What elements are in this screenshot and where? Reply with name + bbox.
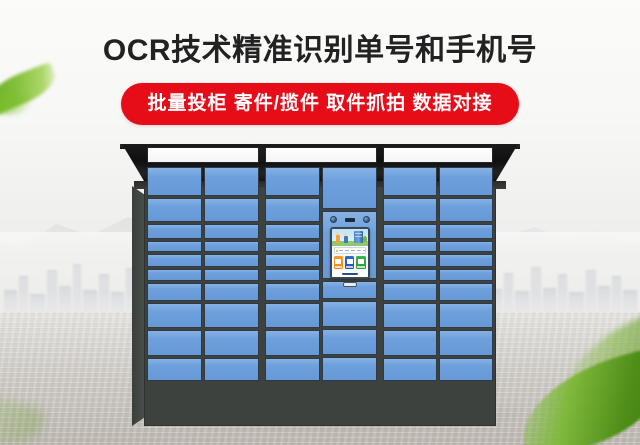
locker-door[interactable] <box>383 198 437 222</box>
locker-door[interactable] <box>383 283 437 301</box>
camera-right-icon <box>363 216 370 223</box>
sensor-bar <box>330 215 370 224</box>
locker-door[interactable] <box>147 358 202 382</box>
locker-door[interactable] <box>439 167 493 196</box>
camera-left-icon <box>330 216 337 223</box>
locker-door[interactable] <box>204 330 259 355</box>
locker-door[interactable] <box>383 358 437 382</box>
locker-door[interactable] <box>383 330 437 355</box>
box-icon <box>347 259 353 264</box>
bay-center-banner <box>265 147 377 163</box>
locker-door[interactable] <box>439 241 493 253</box>
locker-door[interactable] <box>204 241 259 253</box>
locker-door[interactable] <box>265 283 320 301</box>
bay-left-col-1 <box>147 167 202 381</box>
locker-door[interactable] <box>147 224 202 239</box>
page-title: OCR技术精准识别单号和手机号 <box>0 25 640 69</box>
bay-left-col-2 <box>204 167 259 381</box>
locker-door[interactable] <box>204 198 259 222</box>
locker-door[interactable] <box>383 241 437 253</box>
locker-door[interactable] <box>383 254 437 267</box>
customer-figure-icon <box>344 236 348 243</box>
locker-door[interactable] <box>147 254 202 267</box>
locker-door[interactable] <box>383 303 437 328</box>
locker-door[interactable] <box>383 167 437 196</box>
locker-door[interactable] <box>322 357 377 381</box>
bay-right-col-2 <box>439 167 493 381</box>
parcel-icon <box>335 259 341 264</box>
tree-icon <box>363 236 367 242</box>
tile-pickup[interactable] <box>345 256 355 269</box>
bay-center <box>262 144 380 384</box>
locker-door[interactable] <box>204 254 259 267</box>
bay-center-col-2-kiosk <box>322 167 377 381</box>
bay-right-col-1 <box>383 167 437 381</box>
bay-left-doors <box>147 167 259 381</box>
locker-door[interactable] <box>147 330 202 355</box>
locker-door[interactable] <box>383 224 437 239</box>
locker-door[interactable] <box>204 283 259 301</box>
locker-door[interactable] <box>147 303 202 328</box>
bay-right <box>380 144 496 384</box>
kiosk-touchscreen[interactable] <box>330 227 370 279</box>
screen-home-indicator <box>332 271 368 277</box>
phone-icon <box>358 259 364 264</box>
bay-right-doors <box>383 167 493 381</box>
bay-right-banner <box>383 147 493 163</box>
locker-door[interactable] <box>322 301 377 327</box>
scanner-slot-icon <box>345 218 355 222</box>
locker-door[interactable] <box>147 167 202 196</box>
locker-control-panel[interactable] <box>330 215 370 287</box>
locker-door[interactable] <box>265 303 320 328</box>
feature-badge: 批量投柜 寄件/揽件 取件抓拍 数据对接 <box>121 83 518 125</box>
locker-door[interactable] <box>439 330 493 355</box>
bay-left-banner <box>147 147 259 163</box>
courier-figure-icon <box>336 235 340 243</box>
locker-door[interactable] <box>265 269 320 281</box>
locker-door[interactable] <box>204 167 259 196</box>
locker-door[interactable] <box>322 167 377 209</box>
locker-door[interactable] <box>147 241 202 253</box>
feature-badge-container: 批量投柜 寄件/揽件 取件抓拍 数据对接 <box>0 83 640 125</box>
locker-door[interactable] <box>265 358 320 382</box>
locker-door[interactable] <box>439 269 493 281</box>
locker-door[interactable] <box>439 358 493 382</box>
card-slot[interactable] <box>343 282 357 287</box>
search-icon <box>336 250 338 252</box>
locker-door[interactable] <box>383 269 437 281</box>
locker-door[interactable] <box>439 283 493 301</box>
locker-door[interactable] <box>204 358 259 382</box>
base-plinth <box>134 422 502 438</box>
locker-door[interactable] <box>204 303 259 328</box>
tile-send[interactable] <box>356 256 366 269</box>
locker-door[interactable] <box>265 224 320 239</box>
locker-door[interactable] <box>265 198 320 222</box>
locker-door[interactable] <box>439 198 493 222</box>
locker-door[interactable] <box>439 224 493 239</box>
bay-center-doors <box>265 167 377 381</box>
promo-banner-screenshot: OCR技术精准识别单号和手机号 批量投柜 寄件/揽件 取件抓拍 数据对接 <box>0 0 640 445</box>
screen-search-field[interactable] <box>334 247 366 254</box>
bay-left <box>144 144 262 384</box>
locker-door[interactable] <box>265 241 320 253</box>
parcel-locker-cabinet <box>138 144 502 428</box>
locker-illustration-icon <box>354 231 363 243</box>
locker-door[interactable] <box>265 167 320 196</box>
tile-deposit[interactable] <box>334 256 344 269</box>
locker-door[interactable] <box>265 254 320 267</box>
screen-action-tiles <box>332 255 368 271</box>
locker-door[interactable] <box>439 303 493 328</box>
locker-door[interactable] <box>147 283 202 301</box>
locker-door[interactable] <box>147 198 202 222</box>
locker-door[interactable] <box>204 224 259 239</box>
locker-door[interactable] <box>147 269 202 281</box>
locker-door[interactable] <box>439 254 493 267</box>
search-placeholder-text <box>339 250 365 252</box>
bay-center-col-1 <box>265 167 320 381</box>
locker-door[interactable] <box>265 330 320 355</box>
screen-hero-illustration <box>332 229 368 246</box>
locker-door[interactable] <box>204 269 259 281</box>
locker-door[interactable] <box>322 329 377 355</box>
